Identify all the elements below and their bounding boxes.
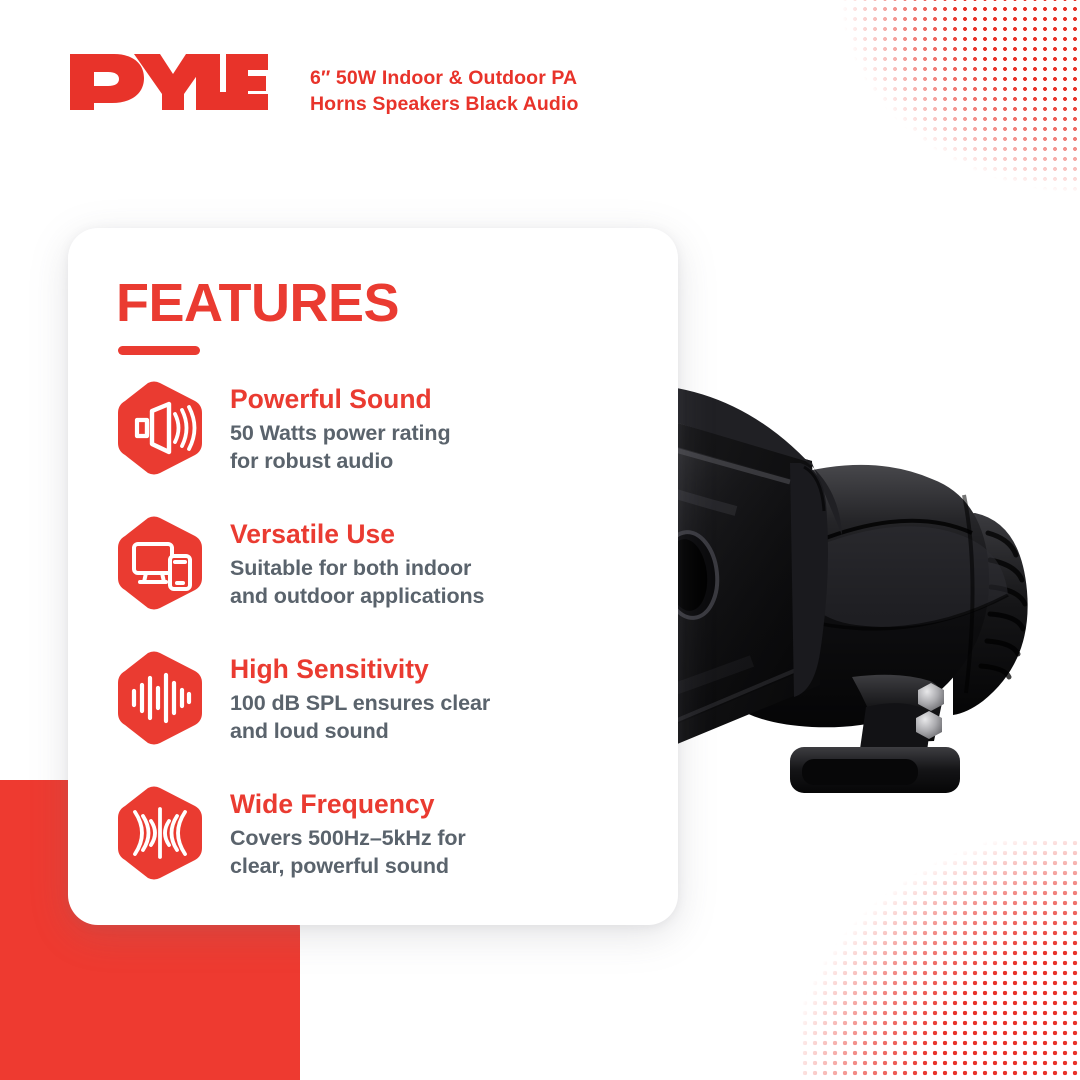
frequency-waves-icon bbox=[112, 785, 208, 881]
feature-title: Wide Frequency bbox=[230, 789, 466, 819]
infographic-canvas: 6″ 50W Indoor & Outdoor PA Horns Speaker… bbox=[0, 0, 1080, 1080]
feature-list: Powerful Sound 50 Watts power rating for… bbox=[112, 380, 652, 920]
product-title-line-1: 6″ 50W Indoor & Outdoor PA bbox=[310, 65, 578, 91]
feature-desc-line-2: and outdoor applications bbox=[230, 582, 484, 610]
features-card: FEATURES bbox=[68, 228, 678, 925]
feature-title: Powerful Sound bbox=[230, 384, 451, 414]
feature-desc-line-1: Suitable for both indoor bbox=[230, 554, 484, 582]
feature-desc-line-1: 100 dB SPL ensures clear bbox=[230, 689, 490, 717]
header: 6″ 50W Indoor & Outdoor PA Horns Speaker… bbox=[68, 52, 578, 117]
feature-title: High Sensitivity bbox=[230, 654, 490, 684]
product-title: 6″ 50W Indoor & Outdoor PA Horns Speaker… bbox=[310, 52, 578, 117]
feature-item-versatile-use: Versatile Use Suitable for both indoor a… bbox=[112, 515, 652, 628]
feature-desc-line-1: 50 Watts power rating bbox=[230, 419, 451, 447]
feature-desc-line-2: and loud sound bbox=[230, 717, 490, 745]
product-title-line-2: Horns Speakers Black Audio bbox=[310, 91, 578, 117]
feature-title: Versatile Use bbox=[230, 519, 484, 549]
features-heading: FEATURES bbox=[116, 276, 399, 330]
feature-item-powerful-sound: Powerful Sound 50 Watts power rating for… bbox=[112, 380, 652, 493]
feature-description: 100 dB SPL ensures clear and loud sound bbox=[230, 689, 490, 745]
monitor-phone-icon bbox=[112, 515, 208, 611]
halftone-dots-top-right-icon bbox=[830, 0, 1080, 194]
feature-item-high-sensitivity: High Sensitivity 100 dB SPL ensures clea… bbox=[112, 650, 652, 763]
feature-item-wide-frequency: Wide Frequency Covers 500Hz–5kHz for cle… bbox=[112, 785, 652, 898]
feature-description: Covers 500Hz–5kHz for clear, powerful so… bbox=[230, 824, 466, 880]
feature-desc-line-2: clear, powerful sound bbox=[230, 852, 466, 880]
feature-text: High Sensitivity 100 dB SPL ensures clea… bbox=[230, 650, 490, 745]
waveform-icon bbox=[112, 650, 208, 746]
heading-underline-rule bbox=[118, 346, 200, 355]
feature-text: Wide Frequency Covers 500Hz–5kHz for cle… bbox=[230, 785, 466, 880]
feature-desc-line-2: for robust audio bbox=[230, 447, 451, 475]
feature-desc-line-1: Covers 500Hz–5kHz for bbox=[230, 824, 466, 852]
feature-description: 50 Watts power rating for robust audio bbox=[230, 419, 451, 475]
feature-text: Powerful Sound 50 Watts power rating for… bbox=[230, 380, 451, 475]
halftone-dots-bottom-right-icon bbox=[800, 838, 1080, 1080]
pyle-logo bbox=[68, 52, 268, 112]
feature-description: Suitable for both indoor and outdoor app… bbox=[230, 554, 484, 610]
feature-text: Versatile Use Suitable for both indoor a… bbox=[230, 515, 484, 610]
speaker-waves-icon bbox=[112, 380, 208, 476]
